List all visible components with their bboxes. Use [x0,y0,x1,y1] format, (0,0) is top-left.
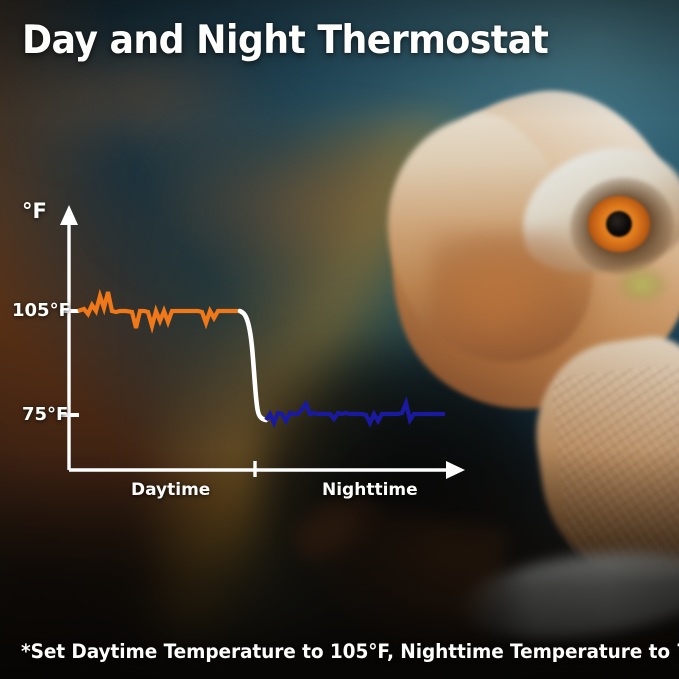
chart-series [78,292,445,423]
chart-axes [60,205,465,479]
transition-curve-line [240,311,266,420]
y-tick-label-105: 105°F [12,300,71,321]
y-tick-label-75: 75°F [22,404,68,425]
x-tick-label-nighttime: Nighttime [322,480,418,500]
thermostat-chart [0,0,679,679]
x-axis-arrowhead [446,461,465,479]
footnote-text: *Set Daytime Temperature to 105°F, Night… [21,640,679,663]
daytime-temperature-line [78,292,240,328]
nighttime-temperature-line [266,403,445,423]
product-infographic: Day and Night Thermostat °F 105°F 75°F D… [0,0,679,679]
y-axis-arrowhead [60,205,78,225]
y-axis-unit-label: °F [22,199,47,223]
x-tick-label-daytime: Daytime [131,480,210,500]
